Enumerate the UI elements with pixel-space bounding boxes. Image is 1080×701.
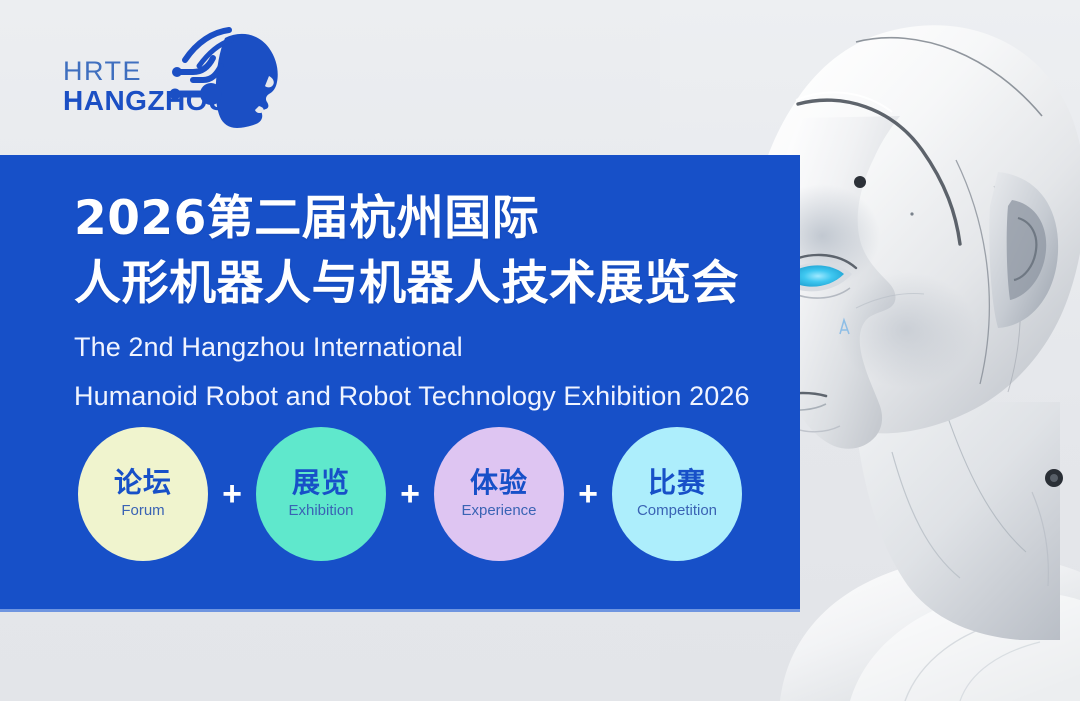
pill-forum[interactable]: 论坛 Forum bbox=[78, 427, 208, 561]
pill-competition-en: Competition bbox=[637, 502, 717, 520]
exhibition-banner-poster: HRTE HANGZHOU bbox=[0, 0, 1080, 701]
title-cn-line2: 人形机器人与机器人技术展览会 bbox=[74, 251, 794, 316]
title-en-line1: The 2nd Hangzhou International bbox=[74, 328, 794, 366]
pill-competition-cn: 比赛 bbox=[648, 468, 706, 499]
sensor-dot bbox=[854, 176, 866, 188]
robot-head-profile-logo-icon bbox=[163, 22, 313, 142]
plus-separator-1: + bbox=[208, 477, 256, 511]
title-cn-line1: 2026第二届杭州国际 bbox=[74, 186, 794, 251]
title-en-line2: Humanoid Robot and Robot Technology Exhi… bbox=[74, 377, 794, 415]
pill-exhibition-en: Exhibition bbox=[288, 502, 353, 520]
pill-forum-en: Forum bbox=[121, 502, 164, 520]
pill-exhibition-cn: 展览 bbox=[292, 468, 350, 499]
pill-exhibition[interactable]: 展览 Exhibition bbox=[256, 427, 386, 561]
hrte-hangzhou-logo[interactable]: HRTE HANGZHOU bbox=[63, 22, 313, 142]
program-pill-row: 论坛 Forum + 展览 Exhibition + 体验 Experience… bbox=[78, 427, 742, 561]
pill-forum-cn: 论坛 bbox=[114, 468, 172, 499]
plus-separator-2: + bbox=[386, 477, 434, 511]
pill-experience-cn: 体验 bbox=[470, 468, 528, 499]
pill-experience-en: Experience bbox=[461, 502, 536, 520]
blue-banner-underline bbox=[0, 609, 800, 612]
headline-block: 2026第二届杭州国际 人形机器人与机器人技术展览会 The 2nd Hangz… bbox=[74, 186, 794, 415]
pill-experience[interactable]: 体验 Experience bbox=[434, 427, 564, 561]
pill-competition[interactable]: 比赛 Competition bbox=[612, 427, 742, 561]
plus-separator-3: + bbox=[564, 477, 612, 511]
